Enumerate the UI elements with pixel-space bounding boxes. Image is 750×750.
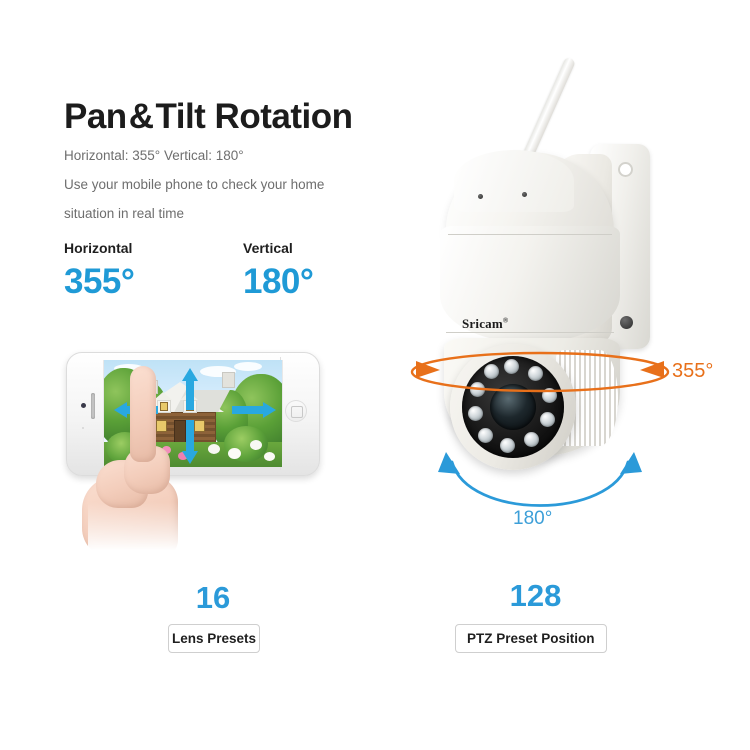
ptz-presets-value: 128 — [478, 578, 593, 614]
ir-led — [540, 412, 555, 427]
housing-screw — [478, 194, 483, 199]
ir-led — [504, 359, 519, 374]
ptz-camera-illustration: Sricam® — [404, 44, 734, 544]
vertical-stat-label: Vertical — [243, 240, 293, 256]
subtitle-line-2: Use your mobile phone to check your home — [64, 177, 324, 192]
hand-fade-overlay — [88, 502, 268, 564]
ir-led — [528, 366, 543, 381]
ir-led — [542, 388, 557, 403]
brand-name: Sricam — [462, 316, 503, 331]
cloud-shape — [234, 362, 262, 371]
lens-presets-label: Lens Presets — [168, 624, 260, 653]
index-finger — [130, 366, 156, 462]
hand-pointing — [88, 404, 268, 564]
dome-seam-line — [446, 332, 614, 333]
proximity-sensor-icon — [82, 427, 84, 429]
dormer-roof — [154, 392, 172, 400]
horizontal-stat-value: 355° — [64, 262, 134, 302]
front-camera-icon — [81, 403, 86, 408]
bracket-screw-hole — [618, 162, 633, 177]
tilt-angle-label: 180° — [513, 508, 552, 530]
brand-logo: Sricam® — [462, 316, 508, 332]
product-feature-banner: Pan&Tilt Rotation Horizontal: 355° Verti… — [0, 0, 750, 750]
title-ampersand: & — [127, 97, 156, 136]
camera-dome-cap — [454, 150, 574, 212]
ptz-presets-label: PTZ Preset Position — [455, 624, 607, 653]
housing-screw — [522, 192, 527, 197]
ir-led — [484, 364, 499, 379]
camera-lens — [490, 384, 536, 430]
page-title: Pan&Tilt Rotation — [64, 97, 352, 137]
pan-angle-label: 355° — [672, 360, 713, 383]
subtitle-line-3: situation in real time — [64, 206, 184, 221]
title-part-1: Pan — [64, 97, 127, 136]
horizontal-stat-label: Horizontal — [64, 240, 132, 256]
lens-presets-value: 16 — [168, 580, 258, 616]
ir-led — [478, 428, 493, 443]
bracket-screw — [620, 316, 633, 329]
subtitle-line-1: Horizontal: 355° Vertical: 180° — [64, 148, 244, 163]
vertical-stat-value: 180° — [243, 262, 313, 302]
home-button[interactable] — [285, 400, 307, 422]
ir-led — [470, 382, 485, 397]
ir-led — [500, 438, 515, 453]
brand-registered-mark: ® — [503, 317, 508, 325]
dome-seam-line — [448, 234, 612, 235]
ir-led — [524, 432, 539, 447]
ir-led — [468, 406, 483, 421]
title-part-2: Tilt Rotation — [155, 97, 352, 136]
